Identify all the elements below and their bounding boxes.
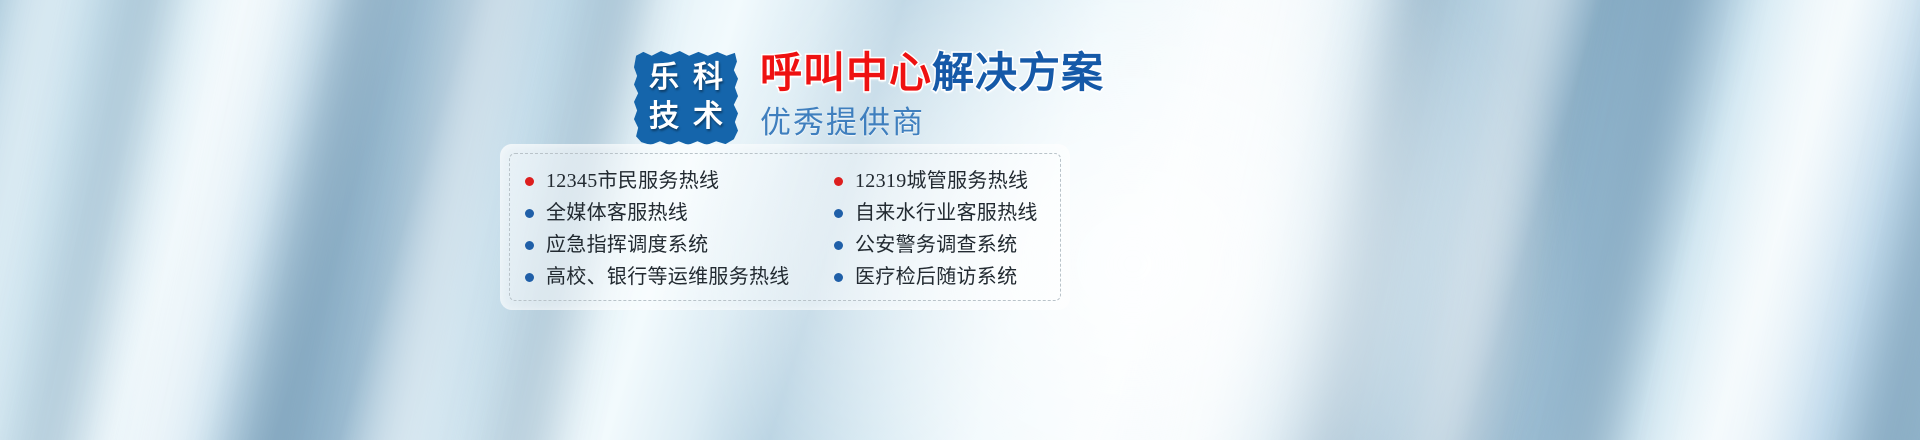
bullet-icon: [525, 209, 534, 218]
list-item-label: 12319城管服务热线: [855, 171, 1028, 191]
list-item[interactable]: 12319城管服务热线: [834, 165, 1070, 197]
list-item-label: 自来水行业客服热线: [855, 203, 1038, 223]
bullet-icon: [834, 241, 843, 250]
bullet-icon: [525, 273, 534, 282]
headline-text-block: 呼叫中心解决方案 优秀提供商: [760, 46, 1104, 141]
feature-column-right: 12319城管服务热线 自来水行业客服热线 公安警务调查系统 医疗检后随访系统: [818, 165, 1070, 310]
list-item-label: 公安警务调查系统: [855, 235, 1017, 255]
list-item[interactable]: 高校、银行等运维服务热线: [525, 261, 818, 293]
headline-title-primary: 呼叫中心: [760, 48, 932, 97]
list-item[interactable]: 12345市民服务热线: [525, 165, 818, 197]
bullet-icon: [834, 273, 843, 282]
list-item[interactable]: 应急指挥调度系统: [525, 229, 818, 261]
feature-list-panel: 12345市民服务热线 全媒体客服热线 应急指挥调度系统 高校、银行等运维服务热…: [500, 144, 1070, 310]
logo-char-4: 术: [693, 102, 723, 132]
logo-char-1: 乐: [649, 63, 679, 93]
bullet-icon: [834, 209, 843, 218]
headline-row: 乐 科 技 术 呼叫中心解决方案 优秀提供商: [634, 46, 1104, 146]
list-item[interactable]: 自来水行业客服热线: [834, 197, 1070, 229]
list-item[interactable]: 公安警务调查系统: [834, 229, 1070, 261]
list-item-label: 应急指挥调度系统: [546, 235, 708, 255]
list-item-label: 12345市民服务热线: [546, 171, 719, 191]
list-item-label: 全媒体客服热线: [546, 203, 688, 223]
promotional-banner: 乐 科 技 术 呼叫中心解决方案 优秀提供商 12345市民服务热线: [0, 0, 1920, 440]
headline-subtitle: 优秀提供商: [760, 105, 1104, 141]
list-item-label: 医疗检后随访系统: [855, 267, 1017, 287]
company-logo-stamp[interactable]: 乐 科 技 术: [634, 50, 738, 146]
bullet-icon: [525, 241, 534, 250]
headline-title: 呼叫中心解决方案: [760, 48, 1104, 98]
banner-content: 乐 科 技 术 呼叫中心解决方案 优秀提供商 12345市民服务热线: [0, 0, 1920, 440]
list-item[interactable]: 医疗检后随访系统: [834, 261, 1070, 293]
list-item-label: 高校、银行等运维服务热线: [546, 267, 790, 287]
headline-title-secondary: 解决方案: [932, 48, 1104, 97]
stamp-character-grid: 乐 科 技 术: [634, 50, 738, 146]
list-item[interactable]: 全媒体客服热线: [525, 197, 818, 229]
logo-char-3: 技: [649, 102, 679, 132]
bullet-icon: [525, 177, 534, 186]
logo-char-2: 科: [693, 63, 723, 93]
bullet-icon: [834, 177, 843, 186]
feature-column-left: 12345市民服务热线 全媒体客服热线 应急指挥调度系统 高校、银行等运维服务热…: [500, 165, 818, 310]
feature-columns: 12345市民服务热线 全媒体客服热线 应急指挥调度系统 高校、银行等运维服务热…: [500, 144, 1070, 310]
